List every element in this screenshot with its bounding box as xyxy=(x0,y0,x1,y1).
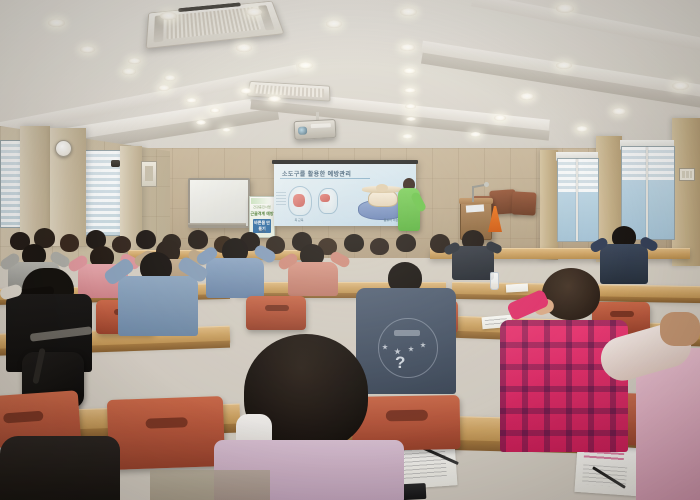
attendee-head xyxy=(60,234,79,252)
downlight xyxy=(222,128,231,132)
projection-screen: 소도구를 활용한 예방관리 목 근육 폼롤러 이완 xyxy=(274,164,416,226)
attendee-head xyxy=(370,238,389,255)
downlight xyxy=(246,8,262,16)
downlight xyxy=(400,44,415,51)
banner-line-top: 건강증진사업 xyxy=(250,205,274,209)
attendee-head-plaid xyxy=(542,268,600,320)
downlight xyxy=(672,82,689,90)
attendee-torso-denimshirt xyxy=(118,276,198,336)
lecture-hall-photo: 건강증진사업 근골격계 예방 바른몸 만들기 보건소 소도구를 활용한 예방관리… xyxy=(0,0,700,500)
attendee-torso xyxy=(452,246,494,280)
downlight xyxy=(158,85,170,91)
downlight xyxy=(48,19,65,27)
downlight xyxy=(80,46,95,53)
downlight xyxy=(404,88,416,93)
downlight xyxy=(576,126,588,132)
microphone-stand xyxy=(472,186,474,202)
downlight xyxy=(405,104,416,109)
attendee-foreground-left xyxy=(0,436,120,500)
attendee-head xyxy=(188,230,208,249)
floor xyxy=(150,470,270,500)
downlight xyxy=(326,20,342,28)
microphone-head xyxy=(484,182,489,187)
stage-chair[interactable] xyxy=(511,191,536,215)
wall-clock xyxy=(55,140,72,157)
water-bottle[interactable] xyxy=(490,272,499,290)
downlight xyxy=(186,98,197,103)
downlight xyxy=(210,108,220,113)
handout-paper[interactable] xyxy=(506,283,528,292)
jacket-graphic-text xyxy=(394,330,420,336)
attendee-torso-blue xyxy=(600,244,648,284)
whiteboard-tray xyxy=(188,223,246,226)
downlight xyxy=(556,62,572,69)
downlight xyxy=(470,132,481,137)
downlight xyxy=(406,117,416,121)
window-with-blinds xyxy=(621,146,675,240)
downlight xyxy=(402,134,413,139)
downlight xyxy=(494,115,506,121)
chair[interactable] xyxy=(107,396,225,470)
downlight xyxy=(164,75,176,81)
attendee-torso-lightblue xyxy=(206,258,264,298)
attendee-head xyxy=(136,230,156,249)
downlight xyxy=(556,4,574,13)
downlight xyxy=(196,120,206,125)
downlight xyxy=(122,68,136,75)
attendee-torso-pink-plaid xyxy=(500,320,628,452)
downlight xyxy=(128,58,141,64)
downlight xyxy=(403,68,416,74)
wall-column xyxy=(540,150,558,260)
downlight xyxy=(400,8,417,16)
attendee-head xyxy=(344,234,364,252)
downlight xyxy=(160,12,177,20)
downlight xyxy=(268,96,281,102)
wall-speaker xyxy=(111,160,120,167)
attendee-head xyxy=(396,234,416,252)
banner-line-mid: 근골격계 예방 xyxy=(250,211,274,217)
attendee-torso-coral xyxy=(288,262,338,296)
wall-cabinet xyxy=(141,161,157,187)
downlight xyxy=(240,88,252,94)
ceiling-projector xyxy=(294,119,337,140)
light-switch-panel[interactable] xyxy=(679,168,695,181)
downlight xyxy=(520,93,534,100)
attendee-arm xyxy=(660,312,700,346)
jacket-graphic-circle xyxy=(378,318,438,378)
window-with-blinds xyxy=(557,158,599,242)
attendee-head xyxy=(112,236,131,253)
downlight xyxy=(612,108,626,115)
jacket-graphic-question: ? xyxy=(395,354,407,372)
downlight xyxy=(298,62,313,69)
wall-column xyxy=(672,118,700,266)
chair[interactable] xyxy=(246,296,306,330)
downlight xyxy=(236,44,252,52)
whiteboard xyxy=(188,178,250,228)
